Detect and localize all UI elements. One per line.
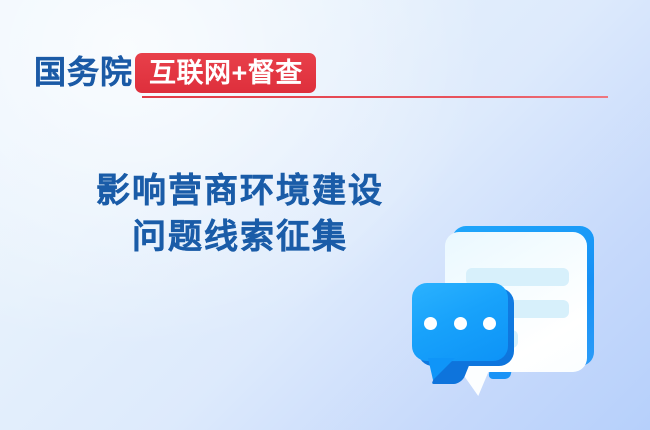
header-divider-rule (142, 96, 608, 98)
typing-dots-icon (424, 316, 496, 330)
page-title-line-1: 影响营商环境建设 (24, 168, 456, 214)
page-title: 影响营商环境建设 问题线索征集 (24, 168, 456, 260)
dot-icon (483, 317, 496, 330)
program-badge-label: 互联网+督查 (149, 58, 303, 88)
chat-bubbles-illustration (398, 212, 618, 392)
agency-name: 国务院 (34, 52, 133, 92)
government-campaign-banner: 国务院 互联网+督查 影响营商环境建设 问题线索征集 (0, 0, 650, 430)
program-badge: 互联网+督查 (135, 53, 316, 93)
banner-header: 国务院 互联网+督查 (0, 52, 650, 102)
page-title-line-2: 问题线索征集 (24, 214, 456, 260)
dot-icon (454, 317, 467, 330)
dot-icon (424, 317, 437, 330)
speech-bubble-blue-tail (428, 358, 455, 380)
